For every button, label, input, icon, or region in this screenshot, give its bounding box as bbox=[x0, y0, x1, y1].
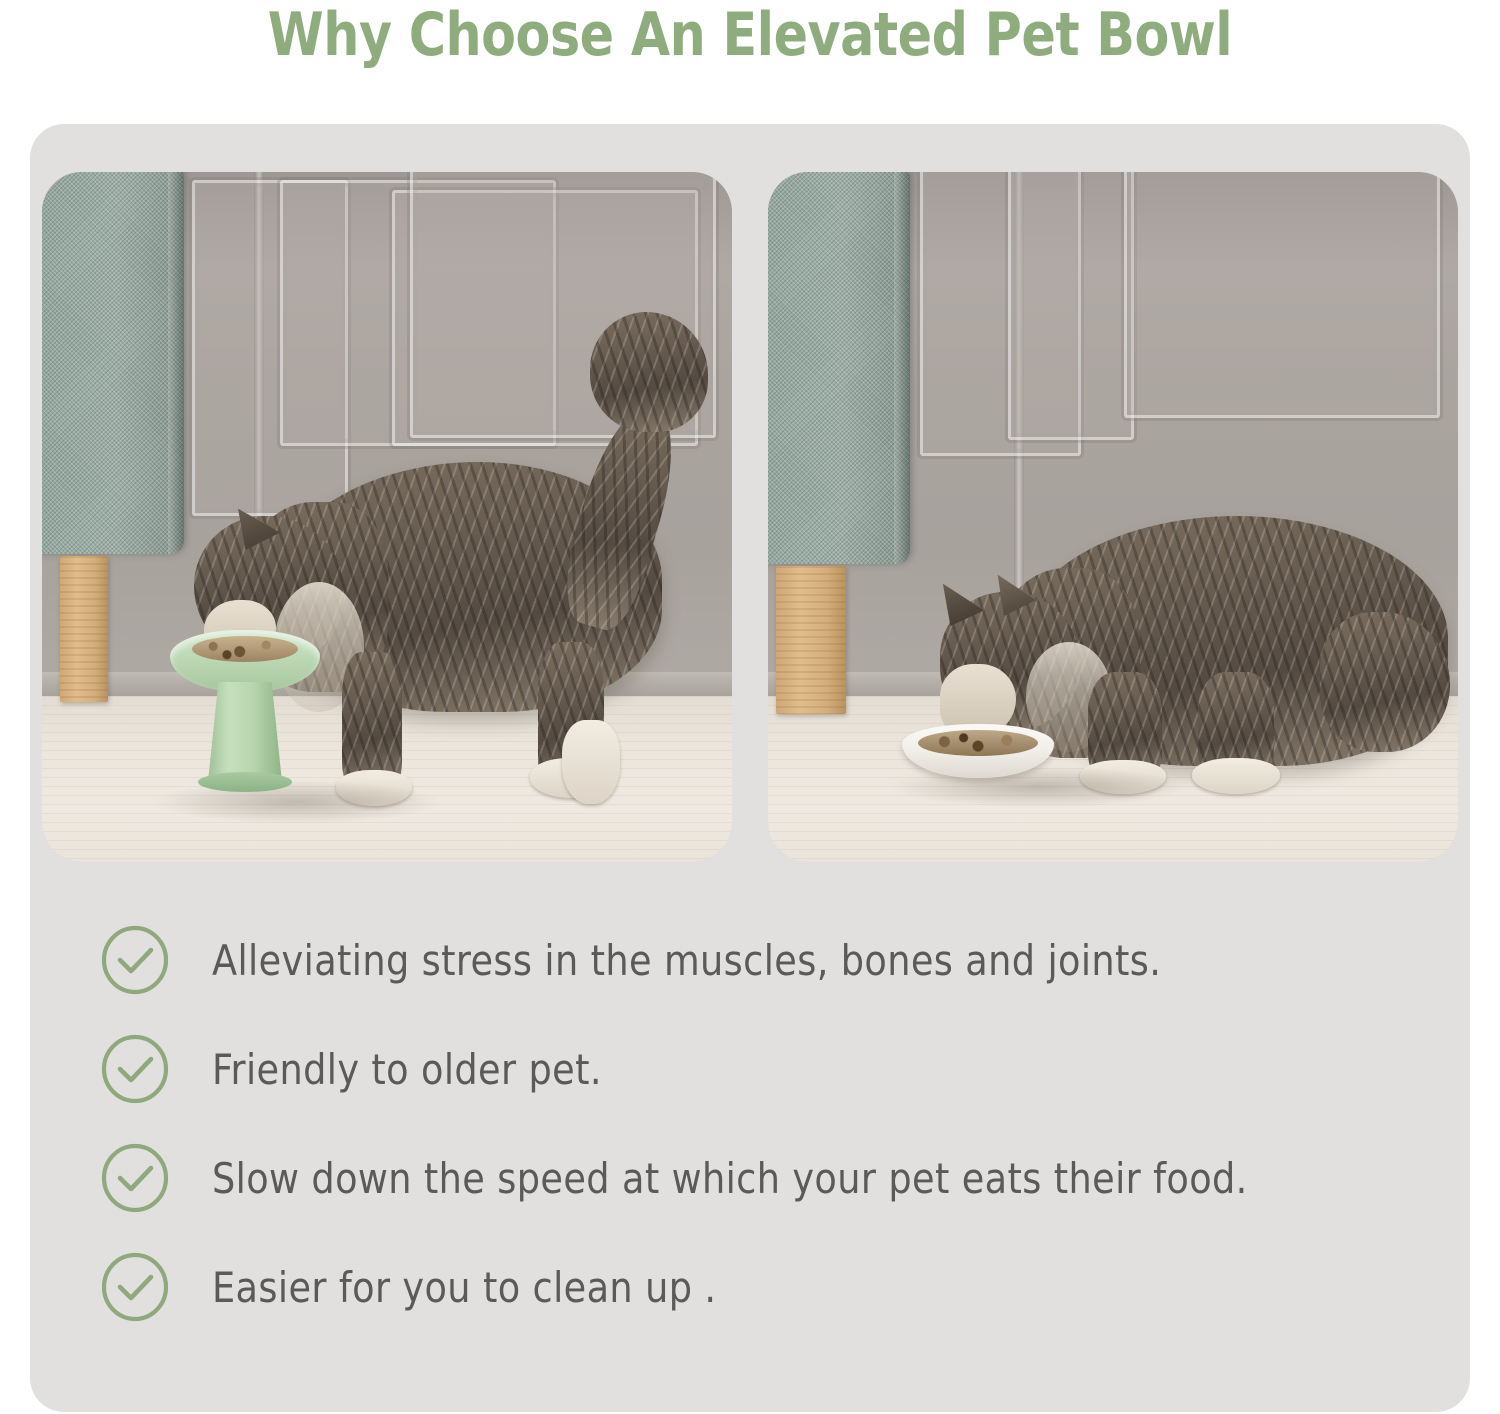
pet-food bbox=[192, 636, 298, 662]
benefit-item-2: Friendly to older pet. bbox=[100, 1031, 1440, 1107]
sofa-fabric-leg bbox=[768, 172, 910, 564]
page-title: Why Choose An Elevated Pet Bowl bbox=[45, 0, 1455, 70]
cat-tail-tip bbox=[590, 312, 708, 432]
check-circle-icon bbox=[100, 1251, 170, 1323]
comparison-photo-row bbox=[42, 172, 1460, 862]
sofa-fabric-leg bbox=[42, 172, 184, 554]
sofa-edge bbox=[168, 172, 184, 554]
cat-paw bbox=[1192, 758, 1280, 794]
benefit-text: Easier for you to clean up . bbox=[212, 1263, 716, 1312]
benefit-text: Slow down the speed at which your pet ea… bbox=[212, 1154, 1248, 1203]
benefit-text: Friendly to older pet. bbox=[212, 1045, 602, 1094]
elevated-bowl-photo bbox=[42, 172, 732, 862]
check-circle-icon bbox=[100, 1142, 170, 1214]
check-circle-icon bbox=[100, 924, 170, 996]
benefit-item-1: Alleviating stress in the muscles, bones… bbox=[100, 922, 1440, 998]
check-circle-icon bbox=[100, 1033, 170, 1105]
cat-tail bbox=[1320, 612, 1450, 752]
wood-furniture-leg bbox=[776, 566, 846, 714]
benefit-text: Alleviating stress in the muscles, bones… bbox=[212, 936, 1161, 985]
benefits-list: Alleviating stress in the muscles, bones… bbox=[100, 922, 1440, 1358]
bowl-pedestal bbox=[208, 682, 282, 782]
flat-pet-bowl bbox=[902, 724, 1062, 784]
benefit-item-3: Slow down the speed at which your pet ea… bbox=[100, 1140, 1440, 1216]
bowl-foot bbox=[198, 772, 292, 792]
wall-moulding bbox=[1124, 172, 1440, 418]
wall-moulding bbox=[1008, 172, 1134, 440]
cat-paw bbox=[562, 720, 620, 804]
sofa-edge bbox=[894, 172, 910, 564]
pet-food bbox=[918, 730, 1038, 756]
floor-bowl-photo bbox=[768, 172, 1458, 862]
benefit-item-4: Easier for you to clean up . bbox=[100, 1249, 1440, 1325]
wood-furniture-leg bbox=[60, 556, 108, 702]
elevated-pet-bowl bbox=[170, 630, 330, 800]
